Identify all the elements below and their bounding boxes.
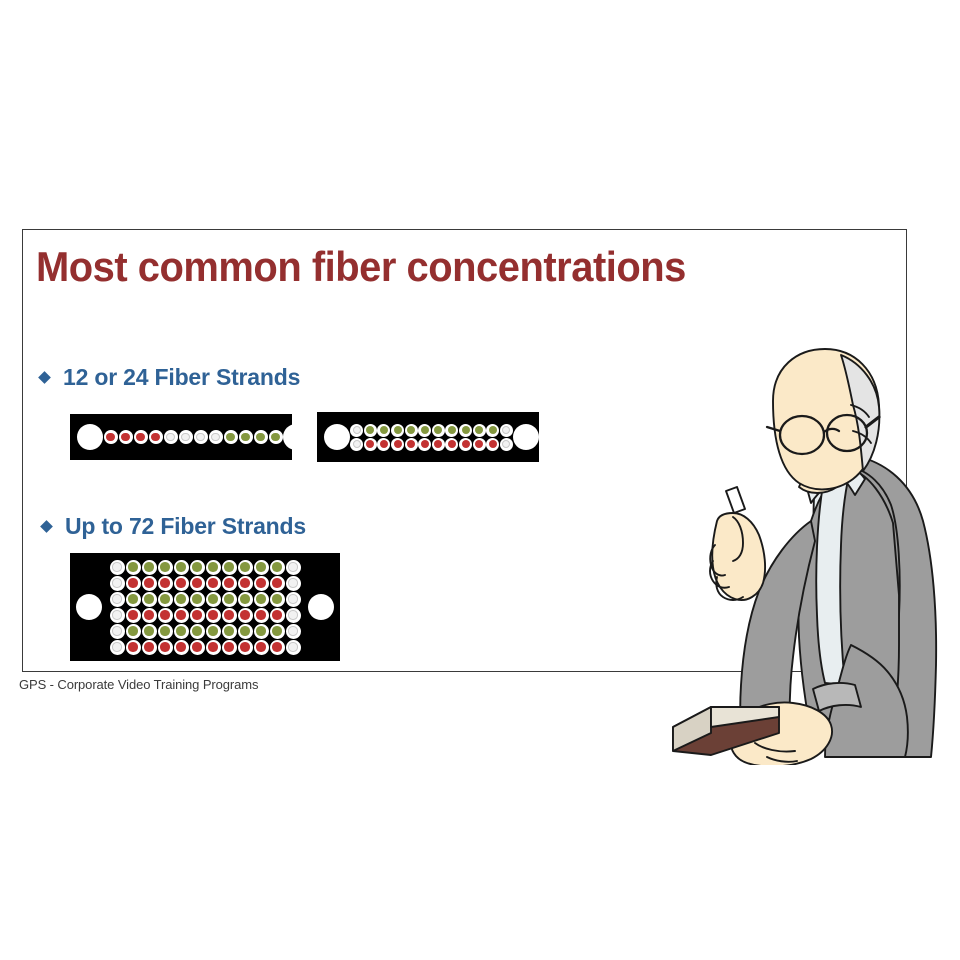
ferrule-grid-12 <box>103 430 283 444</box>
mount-hole-left <box>76 594 102 620</box>
ferrule <box>270 560 285 575</box>
ferrule <box>222 560 237 575</box>
ferrule <box>432 424 445 437</box>
ferrule <box>126 560 141 575</box>
ferrule <box>222 640 237 655</box>
ferrule <box>270 624 285 639</box>
mount-hole-right <box>283 424 309 450</box>
ferrule <box>254 640 269 655</box>
ferrule <box>142 592 157 607</box>
ferrule <box>209 430 223 444</box>
ferrule <box>238 592 253 607</box>
ferrule <box>110 576 125 591</box>
ferrule <box>142 608 157 623</box>
bullet-label: 12 or 24 Fiber Strands <box>63 364 300 391</box>
ferrule <box>190 592 205 607</box>
ferrule <box>238 608 253 623</box>
ferrule <box>473 424 486 437</box>
ferrule <box>126 640 141 655</box>
ferrule <box>269 430 283 444</box>
diamond-bullet-icon <box>38 371 51 384</box>
ferrule <box>190 640 205 655</box>
ferrule-row <box>109 559 301 575</box>
ferrule-row <box>109 591 301 607</box>
mount-hole-left <box>324 424 350 450</box>
ferrule <box>126 592 141 607</box>
ferrule <box>222 576 237 591</box>
ferrule <box>194 430 208 444</box>
ferrule <box>254 608 269 623</box>
ferrule-grid-24 <box>350 423 513 451</box>
ferrule <box>350 424 363 437</box>
ferrule <box>174 624 189 639</box>
ferrule <box>270 576 285 591</box>
footer-note: GPS - Corporate Video Training Programs <box>19 677 258 692</box>
ferrule <box>418 438 431 451</box>
mount-hole-left <box>77 424 103 450</box>
ferrule <box>286 608 301 623</box>
ferrule <box>174 560 189 575</box>
ferrule <box>405 424 418 437</box>
ferrule <box>377 438 390 451</box>
ferrule <box>142 640 157 655</box>
ferrule <box>110 592 125 607</box>
mount-hole-right <box>308 594 334 620</box>
ferrule <box>254 576 269 591</box>
ferrule-row <box>350 423 513 437</box>
ferrule <box>206 640 221 655</box>
ferrule <box>206 624 221 639</box>
diamond-bullet-icon <box>40 520 53 533</box>
ferrule <box>238 576 253 591</box>
ferrule <box>286 592 301 607</box>
ferrule <box>222 608 237 623</box>
ferrule <box>377 424 390 437</box>
ferrule <box>254 430 268 444</box>
ferrule <box>134 430 148 444</box>
ferrule <box>206 592 221 607</box>
bullet-label: Up to 72 Fiber Strands <box>65 513 306 540</box>
ferrule <box>222 592 237 607</box>
ferrule <box>174 608 189 623</box>
ferrule <box>364 438 377 451</box>
bullet-item-up-to-72: Up to 72 Fiber Strands <box>42 513 306 540</box>
ferrule <box>206 576 221 591</box>
ferrule <box>254 560 269 575</box>
bullet-item-12-or-24: 12 or 24 Fiber Strands <box>40 364 300 391</box>
ferrule-row <box>109 623 301 639</box>
ferrule <box>405 438 418 451</box>
ferrule <box>179 430 193 444</box>
ferrule <box>110 640 125 655</box>
ferrule <box>254 624 269 639</box>
ferrule <box>206 608 221 623</box>
ferrule <box>222 624 237 639</box>
ferrule <box>174 640 189 655</box>
ferrule <box>239 430 253 444</box>
ferrule <box>286 640 301 655</box>
ferrule <box>126 624 141 639</box>
ferrule <box>445 438 458 451</box>
ferrule <box>158 608 173 623</box>
ferrule-row <box>109 639 301 655</box>
ferrule <box>391 438 404 451</box>
ferrule <box>119 430 133 444</box>
ferrule <box>500 424 513 437</box>
ferrule <box>190 608 205 623</box>
ferrule <box>391 424 404 437</box>
ferrule <box>432 438 445 451</box>
ferrule <box>286 560 301 575</box>
ferrule <box>158 592 173 607</box>
ferrule <box>190 560 205 575</box>
ferrule <box>158 576 173 591</box>
ferrule <box>286 624 301 639</box>
ferrule <box>142 576 157 591</box>
ferrule <box>270 592 285 607</box>
ferrule <box>149 430 163 444</box>
ferrule <box>286 576 301 591</box>
ferrule-row <box>109 607 301 623</box>
ferrule <box>164 430 178 444</box>
fiber-panel-12 <box>70 414 292 460</box>
ferrule <box>110 608 125 623</box>
ferrule <box>473 438 486 451</box>
ferrule <box>270 640 285 655</box>
ferrule <box>418 424 431 437</box>
ferrule-row <box>109 575 301 591</box>
ferrule <box>238 560 253 575</box>
ferrule-row <box>103 430 283 444</box>
mount-hole-right <box>513 424 539 450</box>
ferrule <box>126 576 141 591</box>
ferrule <box>459 438 472 451</box>
ferrule <box>104 430 118 444</box>
ferrule <box>158 624 173 639</box>
ferrule <box>486 424 499 437</box>
fiber-panel-24 <box>317 412 539 462</box>
ferrule-row <box>350 437 513 451</box>
ferrule <box>254 592 269 607</box>
ferrule <box>459 424 472 437</box>
page-title: Most common fiber concentrations <box>36 243 686 291</box>
ferrule <box>238 624 253 639</box>
ferrule <box>238 640 253 655</box>
ferrule <box>174 576 189 591</box>
ferrule <box>350 438 363 451</box>
ferrule <box>500 438 513 451</box>
ferrule <box>190 576 205 591</box>
ferrule <box>110 560 125 575</box>
ferrule <box>126 608 141 623</box>
ferrule <box>142 560 157 575</box>
ferrule-grid-72 <box>109 559 301 655</box>
ferrule <box>224 430 238 444</box>
ferrule <box>206 560 221 575</box>
fiber-panel-72 <box>70 553 340 661</box>
ferrule <box>445 424 458 437</box>
ferrule <box>158 560 173 575</box>
ferrule <box>142 624 157 639</box>
ferrule <box>158 640 173 655</box>
ferrule <box>174 592 189 607</box>
ferrule <box>270 608 285 623</box>
ferrule <box>364 424 377 437</box>
ferrule <box>110 624 125 639</box>
ferrule <box>190 624 205 639</box>
ferrule <box>486 438 499 451</box>
